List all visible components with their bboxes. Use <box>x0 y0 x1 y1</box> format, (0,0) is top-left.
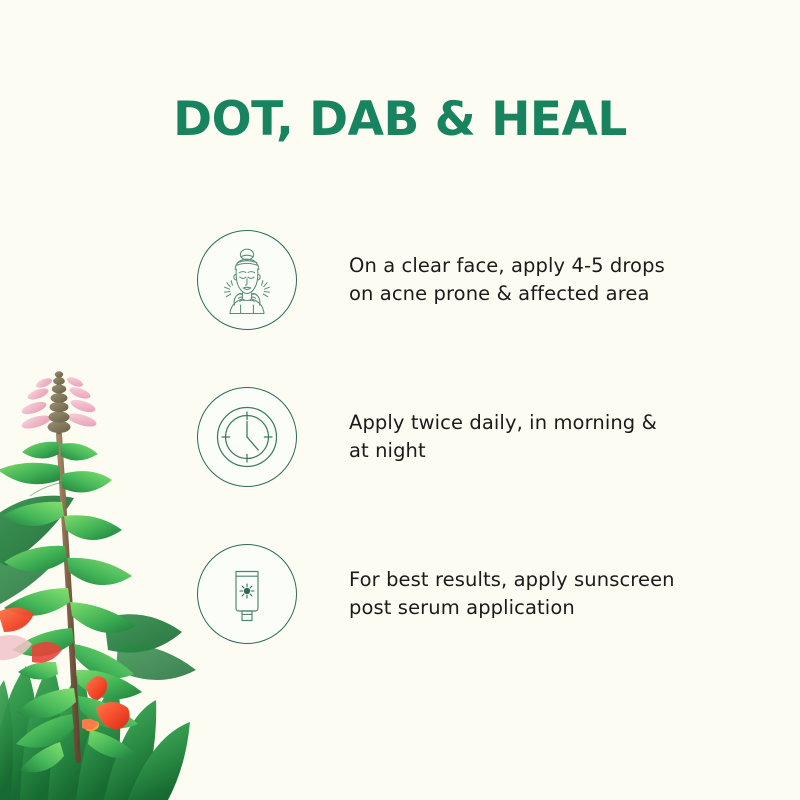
list-item-label: On a clear face, apply 4-5 drops on acne… <box>349 252 679 307</box>
flower-spike <box>20 371 98 433</box>
red-flowers <box>0 607 130 733</box>
face-application-icon <box>197 230 297 330</box>
plant-stem <box>59 434 78 760</box>
list-item-label: For best results, apply sunscreen post s… <box>349 566 679 621</box>
aloe-leaves <box>0 662 190 800</box>
promo-card: DOT, DAB & HEAL <box>0 0 800 800</box>
page-title: DOT, DAB & HEAL <box>0 92 800 147</box>
list-item: On a clear face, apply 4-5 drops on acne… <box>197 230 679 330</box>
list-item: For best results, apply sunscreen post s… <box>197 544 679 644</box>
lower-leaf-cluster <box>16 662 142 772</box>
instruction-steps-list: On a clear face, apply 4-5 drops on acne… <box>197 230 679 644</box>
tulsi-plant-illustration <box>0 370 210 800</box>
top-leaf-pair <box>22 442 98 461</box>
list-item: Apply twice daily, in morning & at night <box>197 387 679 487</box>
pink-accent <box>0 635 32 660</box>
clock-icon <box>197 387 297 487</box>
sunscreen-tube-icon <box>197 544 297 644</box>
stem-leaves-left <box>0 463 74 657</box>
stem-leaves-right <box>62 471 136 678</box>
background-leaves <box>0 496 196 680</box>
list-item-label: Apply twice daily, in morning & at night <box>349 409 679 464</box>
